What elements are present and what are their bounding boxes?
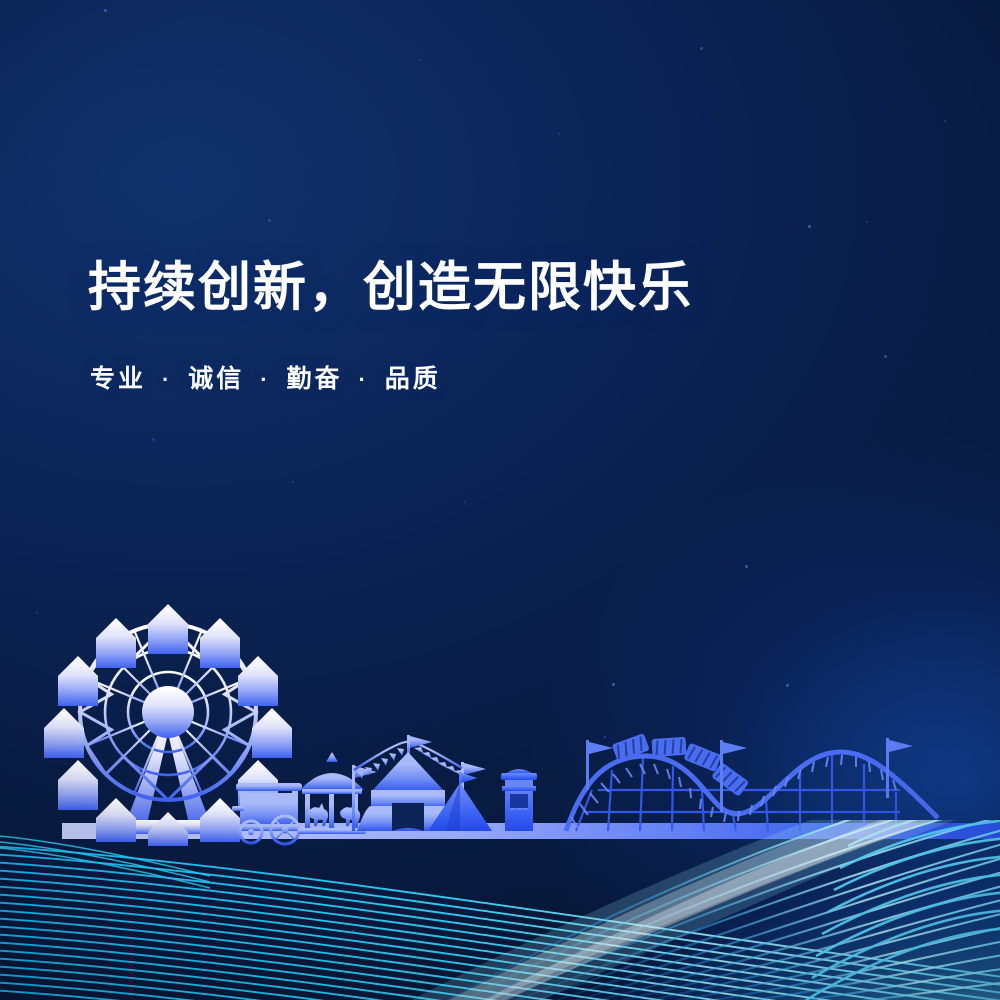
poster-canvas: 持续创新，创造无限快乐 专业 · 诚信 · 勤奋 · 品质: [0, 0, 1000, 1000]
vignette-overlay: [0, 0, 1000, 1000]
